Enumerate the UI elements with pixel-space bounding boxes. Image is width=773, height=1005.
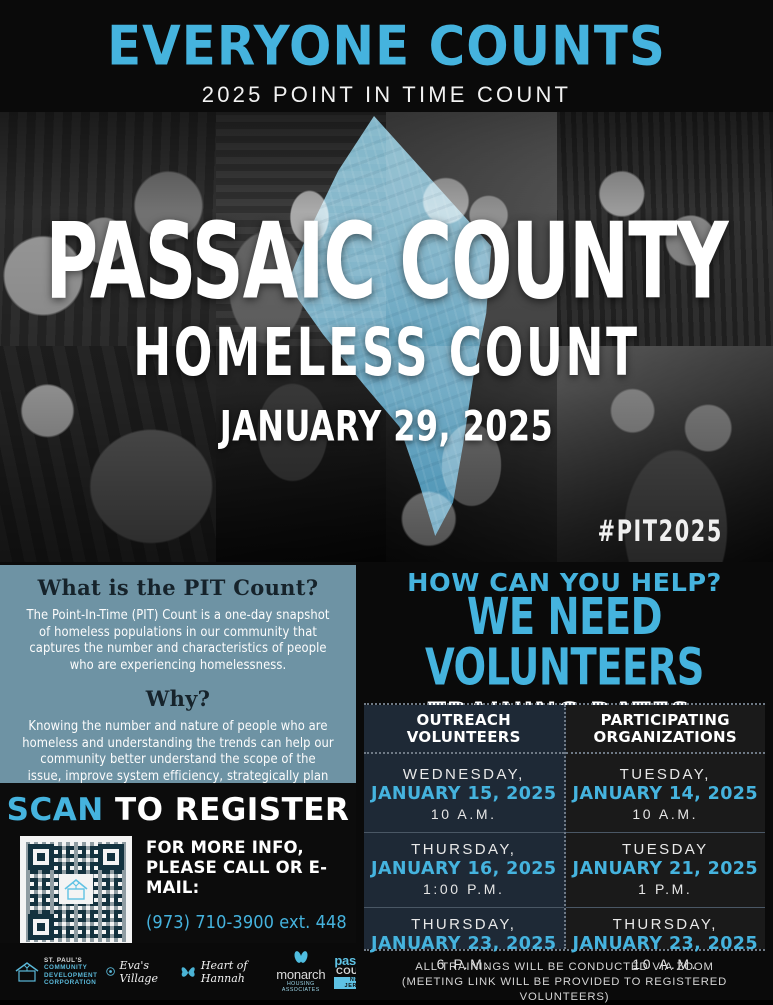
subheadline: 2025 POINT IN TIME COUNT <box>0 82 773 108</box>
zoom-note: ALL TRAININGS WILL BE CONDUCTED VIA ZOOM… <box>356 960 773 1005</box>
column-participating-organizations: PARTICIPATING ORGANIZATIONS TUESDAY, JAN… <box>566 705 766 949</box>
qr-finder-top-right <box>98 844 124 870</box>
slot-date: JANUARY 23, 2025 <box>566 934 766 955</box>
column-title-participating: PARTICIPATING ORGANIZATIONS <box>566 712 766 752</box>
qr-finder-bottom-left <box>28 914 54 940</box>
logo-monarch-tagline: HOUSING ASSOCIATES <box>276 981 325 993</box>
column-divider <box>566 752 766 754</box>
slot-date: JANUARY 21, 2025 <box>566 859 766 880</box>
logo-st-pauls-cdc: ST. PAUL'S COMMUNITY DEVELOPMENT CORPORA… <box>14 957 97 987</box>
slot-day: THURSDAY, <box>364 840 564 859</box>
training-slot[interactable]: TUESDAY JANUARY 21, 2025 1 P.M. <box>566 832 766 902</box>
slot-day: THURSDAY, <box>364 915 564 934</box>
circle-icon <box>106 965 115 978</box>
volunteer-panel: HOW CAN YOU HELP? WE NEED VOLUNTEERS TRA… <box>356 562 773 1000</box>
house-icon <box>14 961 40 983</box>
scan-title-rest: TO REGISTER <box>104 792 350 828</box>
qr-code[interactable] <box>20 836 132 948</box>
slot-date: JANUARY 16, 2025 <box>364 859 564 880</box>
slot-day: THURSDAY, <box>566 915 766 934</box>
slot-time: 10 A.M. <box>364 805 564 823</box>
logo-evas-village-text: Eva's Village <box>120 959 170 985</box>
scan-to-register-section: SCAN TO REGISTER FOR MORE INFO, PLEASE <box>0 783 356 943</box>
butterfly-icon <box>179 959 197 985</box>
qr-pattern <box>26 842 126 942</box>
column-divider <box>364 752 564 754</box>
butterfly-wings-icon <box>290 951 312 964</box>
training-slot[interactable]: THURSDAY, JANUARY 16, 2025 1:00 P.M. <box>364 832 564 902</box>
headline: EVERYONE COUNTS <box>0 18 773 76</box>
slot-day: WEDNESDAY, <box>364 765 564 784</box>
more-info-line2: PLEASE CALL OR E-MAIL: <box>146 858 356 898</box>
info-heading-what: What is the PIT Count? <box>14 575 342 600</box>
zoom-note-line1: ALL TRAININGS WILL BE CONDUCTED VIA ZOOM <box>356 960 773 975</box>
logo-heart-of-hannah: Heart of Hannah <box>179 959 268 985</box>
house-tree-logo-icon <box>59 874 93 904</box>
logo-line-1: ST. PAUL'S <box>44 957 97 964</box>
slot-day: TUESDAY <box>566 840 766 859</box>
more-info-line1: FOR MORE INFO, <box>146 838 356 858</box>
info-body-what: The Point-In-Time (PIT) Count is a one-d… <box>22 607 334 673</box>
logo-heart-of-hannah-text: Heart of Hannah <box>201 959 267 985</box>
slot-date: JANUARY 14, 2025 <box>566 784 766 805</box>
hero-photo-collage: PASSAIC COUNTY HOMELESS COUNT JANUARY 29… <box>0 112 773 562</box>
training-slot[interactable]: TUESDAY, JANUARY 14, 2025 10 A.M. <box>566 762 766 827</box>
page-subtitle: HOMELESS COUNT <box>39 323 735 384</box>
logo-evas-village: Eva's Village <box>106 959 169 985</box>
slot-time: 1 P.M. <box>566 880 766 898</box>
page-title: PASSAIC COUNTY <box>27 213 746 311</box>
qr-finder-top-left <box>28 844 54 870</box>
slot-day: TUESDAY, <box>566 765 766 784</box>
slot-time: 10 A.M. <box>566 805 766 823</box>
hero-text-block: PASSAIC COUNTY HOMELESS COUNT JANUARY 29… <box>0 112 773 562</box>
zoom-note-line2: (MEETING LINK WILL BE PROVIDED TO REGIST… <box>356 975 773 1005</box>
training-slot[interactable]: WEDNESDAY, JANUARY 15, 2025 10 A.M. <box>364 762 564 827</box>
logo-monarch-housing: monarch HOUSING ASSOCIATES <box>276 951 325 993</box>
slot-date: JANUARY 23, 2025 <box>364 934 564 955</box>
column-outreach-volunteers: OUTREACH VOLUNTEERS WEDNESDAY, JANUARY 1… <box>364 705 566 949</box>
logo-line-3: DEVELOPMENT <box>44 972 97 979</box>
scan-title-accent: SCAN <box>7 792 104 828</box>
we-need-volunteers-label: WE NEED VOLUNTEERS <box>362 592 766 693</box>
logo-monarch-name: monarch <box>276 969 325 981</box>
pit-info-panel: What is the PIT Count? The Point-In-Time… <box>0 565 356 783</box>
logo-line-4: CORPORATION <box>44 979 97 986</box>
logo-line-2: COMMUNITY <box>44 964 97 971</box>
scan-title: SCAN TO REGISTER <box>0 783 356 828</box>
training-dates-table: OUTREACH VOLUNTEERS WEDNESDAY, JANUARY 1… <box>364 703 765 951</box>
event-date: JANUARY 29, 2025 <box>62 402 711 450</box>
top-banner: EVERYONE COUNTS 2025 POINT IN TIME COUNT <box>0 0 773 112</box>
info-heading-why: Why? <box>14 686 342 711</box>
column-title-outreach: OUTREACH VOLUNTEERS <box>364 712 564 752</box>
hashtag: #PIT2025 <box>598 515 723 549</box>
slot-date: JANUARY 15, 2025 <box>364 784 564 805</box>
phone-number[interactable]: (973) 710-3900 ext. 448 <box>146 910 356 935</box>
partner-logo-strip: ST. PAUL'S COMMUNITY DEVELOPMENT CORPORA… <box>0 943 380 1000</box>
slot-time: 1:00 P.M. <box>364 880 564 898</box>
